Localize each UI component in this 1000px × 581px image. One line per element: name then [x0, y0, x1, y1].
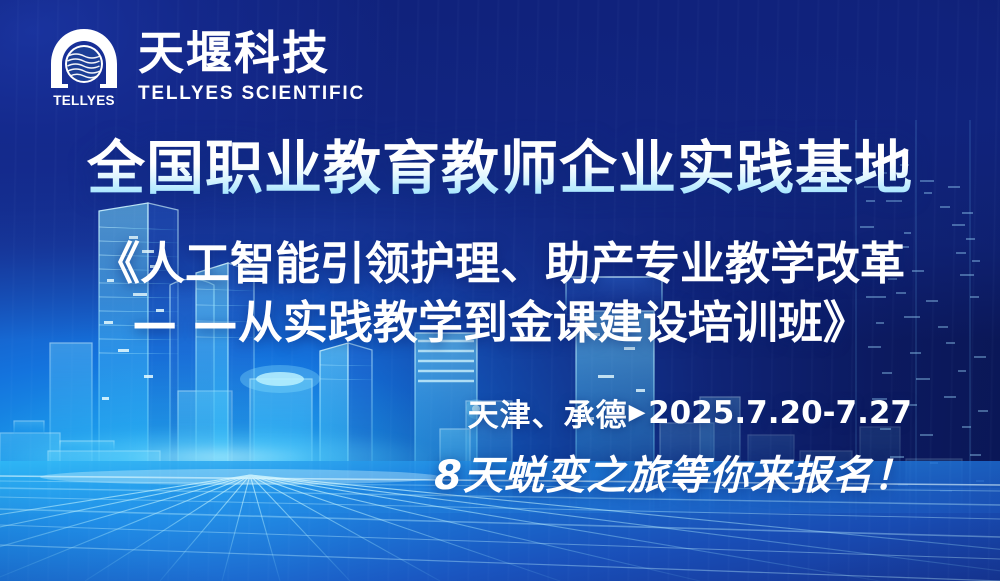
course-subtitle-line-1: 《人工智能引领护理、助产专业教学改革	[95, 237, 905, 290]
event-dates: 2025.7.20-7.27	[648, 395, 912, 431]
event-location: 天津、承德	[468, 390, 628, 435]
poster-text-content: 全国职业教育教师企业实践基地 《人工智能引领护理、助产专业教学改革 — —从实践…	[0, 0, 1000, 581]
course-subtitle-line-2: — —从实践教学到金课建设培训班》	[0, 293, 1000, 352]
call-to-action-tagline: 8天蜕变之旅等你来报名！	[434, 443, 914, 501]
page-title: 全国职业教育教师企业实践基地	[0, 136, 1000, 201]
event-poster: TELLYES 天堰科技 TELLYES SCIENTIFIC 全国职业教育教师…	[0, 0, 1000, 581]
course-subtitle: 《人工智能引领护理、助产专业教学改革 — —从实践教学到金课建设培训班》	[0, 234, 1000, 353]
play-triangle-icon: ▶	[629, 402, 646, 424]
event-date-line: 天津、承德 ▶ 2025.7.20-7.27	[468, 390, 912, 435]
